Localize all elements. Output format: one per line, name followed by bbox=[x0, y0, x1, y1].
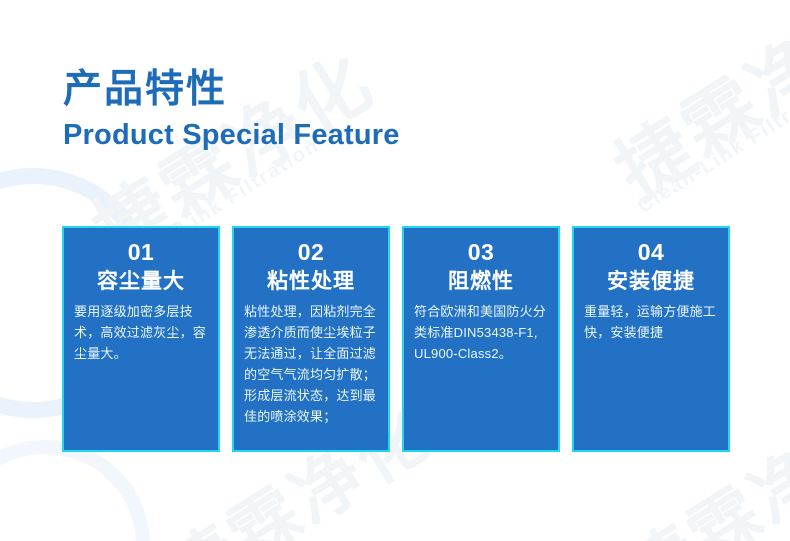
feature-card-number: 01 bbox=[128, 238, 155, 267]
watermark-cjk-right: 捷霖净化 bbox=[604, 0, 790, 211]
feature-card-title: 阻燃性 bbox=[448, 268, 514, 295]
page-title-cjk: 产品特性 bbox=[63, 68, 400, 112]
feature-card-body: 重量轻，运输方便施工快，安装便捷 bbox=[582, 301, 720, 343]
feature-card-title: 安装便捷 bbox=[607, 268, 695, 295]
feature-card[interactable]: 02 粘性处理 粘性处理，因粘剂完全渗透介质而使尘埃粒子无法通过，让全面过滤的空… bbox=[232, 226, 390, 452]
feature-card[interactable]: 01 容尘量大 要用逐级加密多层技术，高效过滤灰尘，容尘量大。 bbox=[62, 226, 220, 452]
feature-card-title: 粘性处理 bbox=[267, 268, 355, 295]
page-header: 产品特性 Product Special Feature bbox=[63, 68, 400, 152]
feature-card-body: 要用逐级加密多层技术，高效过滤灰尘，容尘量大。 bbox=[72, 301, 210, 364]
feature-card-body: 粘性处理，因粘剂完全渗透介质而使尘埃粒子无法通过，让全面过滤的空气气流均匀扩散；… bbox=[242, 301, 380, 427]
feature-card-number: 02 bbox=[298, 238, 325, 267]
feature-card-body: 符合欧洲和美国防火分类标准DIN53438-F1, UL900-Class2。 bbox=[412, 301, 550, 364]
feature-card[interactable]: 03 阻燃性 符合欧洲和美国防火分类标准DIN53438-F1, UL900-C… bbox=[402, 226, 560, 452]
decorative-arc-bottom-left bbox=[0, 440, 150, 541]
feature-card-list: 01 容尘量大 要用逐级加密多层技术，高效过滤灰尘，容尘量大。 02 粘性处理 … bbox=[62, 226, 730, 452]
feature-card-number: 03 bbox=[468, 238, 495, 267]
page-title-en: Product Special Feature bbox=[63, 118, 400, 152]
feature-card-title: 容尘量大 bbox=[97, 268, 185, 295]
product-feature-page: 捷霖净化 Clean-Link Filtration 捷霖净化 Clean-Li… bbox=[0, 0, 790, 541]
feature-card-number: 04 bbox=[638, 238, 665, 267]
feature-card[interactable]: 04 安装便捷 重量轻，运输方便施工快，安装便捷 bbox=[572, 226, 730, 452]
watermark-en-right: Clean-Link Filtration bbox=[635, 75, 790, 217]
